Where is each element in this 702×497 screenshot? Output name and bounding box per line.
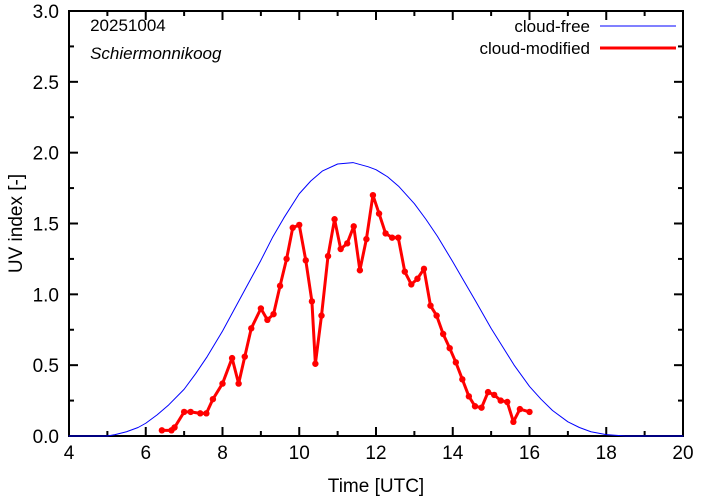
data-point-cloud-modified	[376, 210, 382, 216]
x-tick-label: 14	[442, 443, 464, 464]
data-point-cloud-modified	[159, 427, 165, 433]
data-point-cloud-modified	[517, 406, 523, 412]
data-point-cloud-modified	[187, 409, 193, 415]
data-point-cloud-modified	[303, 257, 309, 263]
data-point-cloud-modified	[264, 317, 270, 323]
data-point-cloud-modified	[408, 281, 414, 287]
y-tick-label: 1.5	[33, 215, 59, 236]
data-point-cloud-modified	[370, 192, 376, 198]
data-point-cloud-modified	[197, 410, 203, 416]
data-point-cloud-modified	[258, 305, 264, 311]
data-point-cloud-modified	[296, 222, 302, 228]
data-point-cloud-modified	[459, 376, 465, 382]
data-point-cloud-modified	[395, 234, 401, 240]
data-point-cloud-modified	[203, 410, 209, 416]
legend-label-cloud-free: cloud-free	[514, 17, 590, 36]
data-point-cloud-modified	[290, 225, 296, 231]
data-point-cloud-modified	[421, 266, 427, 272]
y-tick-label: 3.0	[33, 2, 59, 23]
annotation-station: Schiermonnikoog	[90, 44, 222, 63]
x-tick-label: 12	[365, 443, 386, 464]
x-tick-label: 8	[217, 443, 228, 464]
y-tick-label: 2.0	[33, 144, 59, 165]
data-point-cloud-modified	[440, 331, 446, 337]
annotation-date: 20251004	[90, 16, 166, 35]
data-point-cloud-modified	[248, 325, 254, 331]
data-point-cloud-modified	[210, 396, 216, 402]
data-point-cloud-modified	[433, 312, 439, 318]
y-axis-title: UV index [-]	[6, 174, 27, 273]
data-point-cloud-modified	[446, 345, 452, 351]
data-point-cloud-modified	[504, 399, 510, 405]
data-point-cloud-modified	[472, 403, 478, 409]
data-point-cloud-modified	[270, 311, 276, 317]
data-point-cloud-modified	[312, 361, 318, 367]
data-point-cloud-modified	[318, 312, 324, 318]
data-point-cloud-modified	[382, 230, 388, 236]
legend-label-cloud-modified: cloud-modified	[479, 39, 590, 58]
data-point-cloud-modified	[344, 240, 350, 246]
x-tick-label: 18	[596, 443, 617, 464]
x-tick-label: 10	[289, 443, 310, 464]
data-point-cloud-modified	[229, 355, 235, 361]
data-point-cloud-modified	[181, 409, 187, 415]
data-point-cloud-modified	[331, 216, 337, 222]
data-point-cloud-modified	[351, 223, 357, 229]
data-point-cloud-modified	[427, 302, 433, 308]
x-tick-label: 16	[519, 443, 540, 464]
data-point-cloud-modified	[309, 298, 315, 304]
data-point-cloud-modified	[478, 404, 484, 410]
data-point-cloud-modified	[357, 267, 363, 273]
data-point-cloud-modified	[242, 353, 248, 359]
data-point-cloud-modified	[466, 393, 472, 399]
data-point-cloud-modified	[510, 419, 516, 425]
data-point-cloud-modified	[283, 256, 289, 262]
x-tick-label: 6	[140, 443, 151, 464]
data-point-cloud-modified	[337, 246, 343, 252]
x-tick-label: 4	[64, 443, 75, 464]
data-point-cloud-modified	[219, 380, 225, 386]
y-tick-label: 1.0	[33, 285, 59, 306]
data-point-cloud-modified	[363, 236, 369, 242]
x-tick-label: 20	[672, 443, 693, 464]
y-tick-label: 0.5	[33, 356, 59, 377]
data-point-cloud-modified	[171, 424, 177, 430]
data-point-cloud-modified	[277, 283, 283, 289]
data-point-cloud-modified	[491, 392, 497, 398]
data-point-cloud-modified	[485, 389, 491, 395]
data-point-cloud-modified	[453, 359, 459, 365]
data-point-cloud-modified	[526, 409, 532, 415]
y-tick-label: 0.0	[33, 427, 59, 448]
chart-canvas: 468101214161820 0.00.51.01.52.02.53.0 20…	[0, 0, 702, 497]
data-point-cloud-modified	[389, 234, 395, 240]
chart-background	[0, 0, 702, 497]
uv-index-chart: 468101214161820 0.00.51.01.52.02.53.0 20…	[0, 0, 702, 497]
data-point-cloud-modified	[402, 268, 408, 274]
data-point-cloud-modified	[498, 397, 504, 403]
data-point-cloud-modified	[325, 253, 331, 259]
y-tick-label: 2.5	[33, 73, 59, 94]
data-point-cloud-modified	[414, 276, 420, 282]
data-point-cloud-modified	[235, 380, 241, 386]
x-axis-title: Time [UTC]	[328, 476, 424, 497]
